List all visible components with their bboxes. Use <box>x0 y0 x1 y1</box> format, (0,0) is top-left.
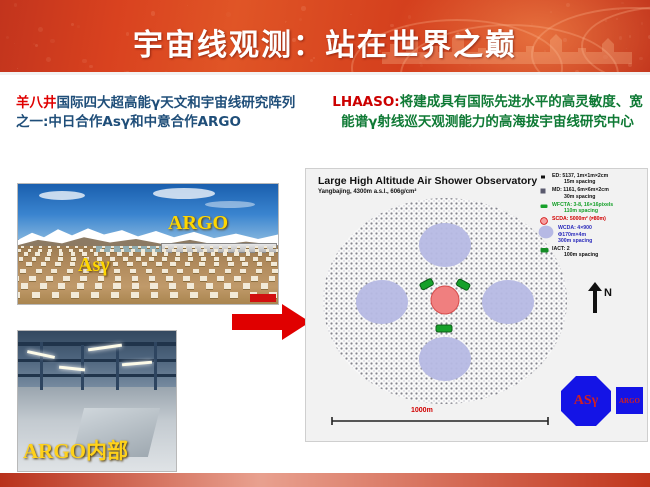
array-detector-dot <box>24 252 28 255</box>
array-detector-dot <box>46 276 53 281</box>
banner-underline <box>0 72 650 75</box>
array-detector-dot <box>141 252 145 255</box>
array-detector-dot <box>269 252 273 255</box>
array-detector-dot <box>91 292 99 298</box>
array-detector-dot <box>149 257 154 261</box>
array-detector-dot <box>170 292 178 298</box>
array-detector-dot <box>234 276 241 281</box>
array-detector-dot <box>187 283 194 288</box>
legend-iact-line2: 100m spacing <box>552 252 646 258</box>
legend-wfcta-line2: 110m spacing <box>552 208 646 214</box>
photo-argo-hall: ARGO内部 <box>17 330 177 472</box>
array-detector-dot <box>67 269 73 274</box>
array-detector-dot <box>243 283 250 288</box>
array-detector-dot <box>90 249 94 252</box>
array-detector-dot <box>20 269 26 274</box>
legend-wcda-line3: 300m spacing <box>558 238 646 244</box>
lhaaso-layout-figure: Large High Altitude Air Shower Observato… <box>305 168 648 442</box>
array-detector-dot <box>117 252 121 255</box>
array-detector-dot <box>147 246 150 248</box>
array-detector-dot <box>246 252 250 255</box>
array-detector-dot <box>71 257 76 261</box>
array-detector-dot <box>224 249 228 252</box>
array-detector-dot <box>17 262 18 266</box>
banner-speck <box>273 34 275 36</box>
array-detector-dot <box>228 246 231 248</box>
left-description: 羊八井国际四大超高能γ天文和宇宙线研究阵列之一:中日合作Asγ和中意合作ARGO <box>16 94 296 132</box>
array-detector-dot <box>266 249 270 252</box>
array-detector-dot <box>152 252 156 255</box>
array-detector-dot <box>230 292 238 298</box>
array-detector-dot <box>17 292 20 298</box>
badge-asgamma-label: ASγ <box>574 393 598 409</box>
figure-title: Large High Altitude Air Shower Observato… <box>318 175 537 187</box>
legend-item-scda: SCDA: 5000m² (≠80m) <box>538 216 646 222</box>
array-detector-dot <box>253 257 258 261</box>
array-detector-dot <box>113 283 120 288</box>
array-detector-dot <box>131 292 139 298</box>
array-detector-dot <box>164 252 168 255</box>
array-detector-dot <box>151 292 159 298</box>
legend-item-ed: ED: 5137, 1m×1m×2cm 15m spacing <box>538 173 646 185</box>
right-description-highlight: LHAASO: <box>332 94 399 110</box>
array-detector-dot <box>210 246 213 248</box>
legend-item-wcda: WCDA: 4×900 Φ170m×4m 300m spacing <box>538 225 646 244</box>
cloud-shape <box>153 188 215 199</box>
array-detector-dot <box>176 252 180 255</box>
array-detector-dot <box>21 283 28 288</box>
banner-speck <box>348 51 351 54</box>
banner-speck <box>230 53 233 56</box>
array-detector-dot <box>69 249 73 252</box>
ed-symbol-icon <box>540 174 546 180</box>
left-description-highlight: 羊八井 <box>16 95 57 111</box>
iact-telescope-icon <box>540 247 549 254</box>
photo-yangbajing-array: ARGO Asγ <box>17 183 279 305</box>
array-detector-dot <box>40 283 47 288</box>
array-detector-dot <box>59 249 63 252</box>
banner-speck <box>46 57 51 62</box>
array-detector-dot <box>95 283 102 288</box>
legend-item-md: MD: 1161, 6m×6m×2cm 30m spacing <box>538 187 646 199</box>
array-detector-dot <box>223 252 227 255</box>
array-detector-dot <box>21 246 24 248</box>
array-detector-dot <box>162 269 168 274</box>
array-detector-dot <box>172 249 176 252</box>
array-detector-dot <box>52 292 60 298</box>
legend-item-wfcta: WFCTA: 3-8, 16×16pixels 110m spacing <box>538 202 646 214</box>
array-detector-dot <box>188 257 193 261</box>
badge-argo: ARGO <box>616 387 643 414</box>
array-detector-dot <box>79 249 83 252</box>
array-detector-dot <box>225 269 231 274</box>
array-detector-dot <box>203 249 207 252</box>
banner-speck <box>257 47 261 51</box>
badge-argo-label: ARGO <box>619 397 640 405</box>
wcda-pond-icon <box>538 225 554 239</box>
array-detector-dot <box>146 269 152 274</box>
badge-asgamma: ASγ <box>561 376 611 426</box>
array-detector-dot <box>183 276 190 281</box>
array-detector-dot <box>201 257 206 261</box>
array-detector-dot <box>269 276 276 281</box>
banner-speck <box>301 6 305 10</box>
array-detector-dot <box>177 269 183 274</box>
photo-label-argo: ARGO <box>168 212 228 235</box>
cloud-shape <box>205 201 255 208</box>
array-detector-dot <box>156 246 159 248</box>
array-detector-dot <box>183 249 187 252</box>
right-description: LHAASO:将建成具有国际先进水平的高灵敏度、宽能谱γ射线巡天观测能力的高海拔… <box>330 92 645 132</box>
array-detector-dot <box>175 257 180 261</box>
array-detector-dot <box>206 283 213 288</box>
array-detector-dot <box>185 262 191 266</box>
array-detector-dot <box>110 257 115 261</box>
banner-speck <box>313 57 315 59</box>
array-detector-dot <box>136 257 141 261</box>
photo-label-argo-interior: ARGO内部 <box>23 435 128 465</box>
array-detector-dot <box>58 283 65 288</box>
array-detector-dot <box>261 283 268 288</box>
array-detector-dot <box>255 249 259 252</box>
hall-column <box>40 342 43 390</box>
banner-speck <box>14 3 17 6</box>
array-detector-dot <box>214 257 219 261</box>
array-detector-dot <box>48 249 52 252</box>
array-detector-dot <box>70 262 76 266</box>
array-detector-dot <box>41 262 47 266</box>
array-detector-dot <box>152 249 156 252</box>
photo-label-asgamma: Asγ <box>78 254 110 277</box>
array-detector-dot <box>32 292 40 298</box>
banner-speck <box>38 27 43 32</box>
banner-speck <box>77 25 80 28</box>
array-detector-dot <box>214 262 220 266</box>
array-detector-dot <box>219 246 222 248</box>
banner-speck <box>82 59 86 63</box>
scda-circle-icon <box>540 217 548 225</box>
array-detector-dot <box>256 269 262 274</box>
bottom-accent-bar <box>0 473 650 487</box>
array-detector-dot <box>63 276 70 281</box>
array-detector-dot <box>55 262 61 266</box>
array-detector-dot <box>110 249 114 252</box>
md-symbol-icon <box>540 188 546 194</box>
array-detector-dot <box>75 246 78 248</box>
array-detector-dot <box>115 276 122 281</box>
array-detector-dot <box>228 262 234 266</box>
array-detector-dot <box>149 276 156 281</box>
array-detector-dot <box>271 262 277 266</box>
banner-speck <box>566 3 570 7</box>
array-detector-dot <box>17 276 19 281</box>
array-detector-dot <box>150 283 157 288</box>
legend-ed-line2: 15m spacing <box>552 179 646 185</box>
array-detector-dot <box>17 249 21 252</box>
array-detector-dot <box>210 292 218 298</box>
array-detector-dot <box>28 249 32 252</box>
red-arrow-icon <box>232 303 310 341</box>
array-detector-dot <box>29 276 36 281</box>
figure-legend: ED: 5137, 1m×1m×2cm 15m spacing MD: 1161… <box>538 173 646 260</box>
array-detector-dot <box>111 292 119 298</box>
array-detector-dot <box>227 257 232 261</box>
array-detector-dot <box>234 252 238 255</box>
hall-column <box>116 345 119 390</box>
array-detector-dot <box>141 249 145 252</box>
array-detector-dot <box>59 252 63 255</box>
array-detector-dot <box>257 262 263 266</box>
scale-bar-label: 1000m <box>411 407 433 414</box>
banner-speck <box>329 38 333 42</box>
banner-speck <box>89 65 93 69</box>
array-detector-dot <box>93 246 96 248</box>
banner-speck <box>126 32 129 35</box>
array-detector-dot <box>193 269 199 274</box>
array-detector-dot <box>170 262 176 266</box>
array-detector-dot <box>188 252 192 255</box>
array-detector-dot <box>258 252 262 255</box>
array-detector-dot <box>77 283 84 288</box>
array-detector-dot <box>266 257 271 261</box>
array-detector-dot <box>84 246 87 248</box>
array-detector-dot <box>100 249 104 252</box>
array-detector-dot <box>162 257 167 261</box>
array-detector-dot <box>235 249 239 252</box>
array-detector-dot <box>162 249 166 252</box>
array-detector-dot <box>35 252 39 255</box>
array-detector-dot <box>240 257 245 261</box>
array-detector-dot <box>114 269 120 274</box>
array-detector-dot <box>190 292 198 298</box>
north-label: N <box>604 287 612 299</box>
array-detector-dot <box>38 249 42 252</box>
array-detector-dot <box>71 252 75 255</box>
array-detector-dot <box>131 249 135 252</box>
title-banner: 宇宙线观测：站在世界之巅 <box>0 0 650 72</box>
figure-subtitle: Yangbajing, 4300m a.s.l., 606g/cm² <box>318 189 416 195</box>
legend-md-line2: 30m spacing <box>552 194 646 200</box>
left-description-body: 国际四大超高能γ天文和宇宙线研究阵列之一:中日合作Asγ和中意合作ARGO <box>16 95 295 130</box>
array-detector-dot <box>200 276 207 281</box>
array-detector-dot <box>199 252 203 255</box>
array-detector-dot <box>242 262 248 266</box>
array-detector-dot <box>272 269 278 274</box>
array-detector-dot <box>217 276 224 281</box>
array-detector-dot <box>214 249 218 252</box>
array-detector-dot <box>169 283 176 288</box>
array-detector-dot <box>121 249 125 252</box>
array-detector-dot <box>251 276 258 281</box>
array-detector-dot <box>127 262 133 266</box>
array-detector-dot <box>199 262 205 266</box>
array-detector-dot <box>276 249 279 252</box>
array-detector-dot <box>142 262 148 266</box>
legend-scda-line1: SCDA: 5000m² (≠80m) <box>552 216 646 222</box>
hall-column <box>154 342 157 390</box>
slide-canvas: 宇宙线观测：站在世界之巅 羊八井国际四大超高能γ天文和宇宙线研究阵列之一:中日合… <box>0 0 650 487</box>
array-detector-dot <box>224 283 231 288</box>
array-detector-dot <box>36 269 42 274</box>
array-detector-dot <box>58 257 63 261</box>
wfcta-telescope-icon <box>540 203 548 209</box>
array-detector-dot <box>123 257 128 261</box>
array-detector-dot <box>209 269 215 274</box>
array-detector-dot <box>19 257 24 261</box>
array-detector-dot <box>132 276 139 281</box>
banner-speck <box>550 11 552 13</box>
array-detector-dot <box>129 252 133 255</box>
banner-speck <box>17 68 18 69</box>
banner-speck <box>151 11 156 16</box>
banner-speck <box>285 21 286 22</box>
array-detector-dot <box>245 249 249 252</box>
array-detector-dot <box>45 257 50 261</box>
array-detector-dot <box>51 269 57 274</box>
banner-speck <box>168 34 172 38</box>
array-detector-dot <box>32 257 37 261</box>
banner-speck <box>187 5 188 6</box>
array-detector-dot <box>26 262 32 266</box>
array-detector-dot <box>130 269 136 274</box>
banner-speck <box>350 14 351 15</box>
array-detector-dot <box>240 269 246 274</box>
array-detector-dot <box>166 276 173 281</box>
array-detector-dot <box>132 283 139 288</box>
photo-red-marker <box>250 294 276 302</box>
array-detector-dot <box>47 252 51 255</box>
detector-array-disk <box>320 197 570 409</box>
array-detector-dot <box>193 249 197 252</box>
legend-item-iact: IACT: 2 100m spacing <box>538 246 646 258</box>
banner-speck <box>226 12 230 16</box>
array-detector-dot <box>211 252 215 255</box>
scale-bar <box>330 416 550 426</box>
array-detector-dot <box>71 292 79 298</box>
array-detector-dot <box>156 262 162 266</box>
array-detector-dot <box>113 262 119 266</box>
